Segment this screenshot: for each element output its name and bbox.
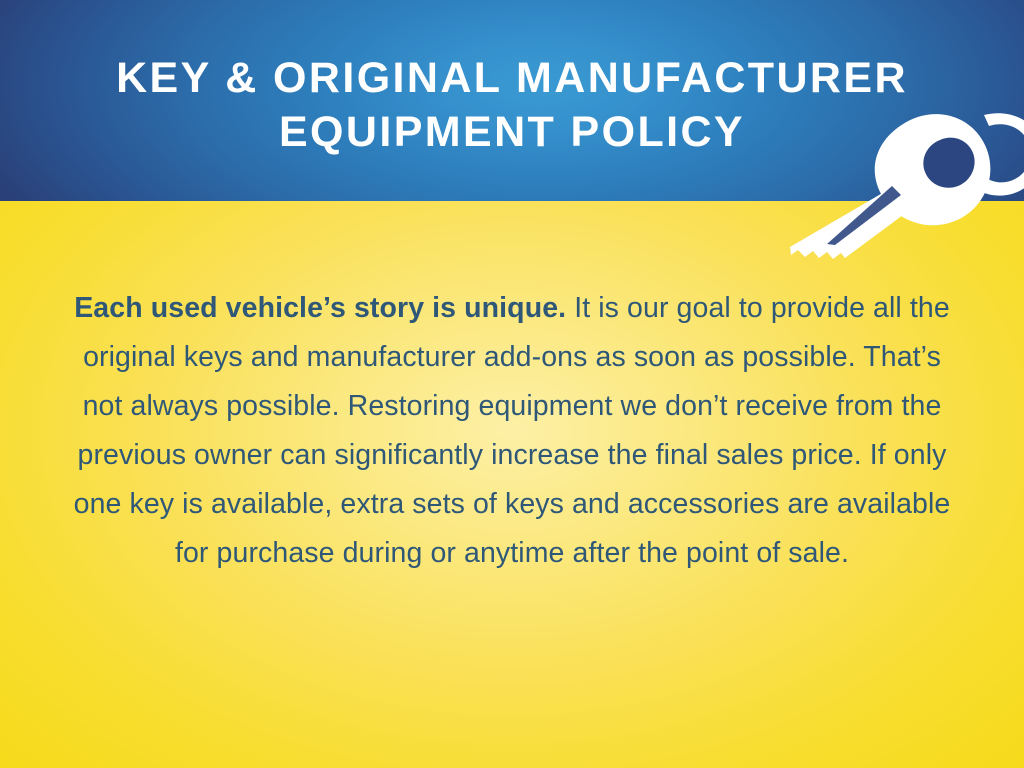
policy-body-text: Each used vehicle’s story is unique. It … <box>62 284 962 578</box>
page-title-line-1: KEY & ORIGINAL MANUFACTURER <box>116 51 908 105</box>
policy-lead-sentence: Each used vehicle’s story is unique. <box>74 292 566 324</box>
policy-slide: KEY & ORIGINAL MANUFACTURER EQUIPMENT PO… <box>0 0 1024 768</box>
header-title-block: KEY & ORIGINAL MANUFACTURER EQUIPMENT PO… <box>0 0 1024 201</box>
header-band: KEY & ORIGINAL MANUFACTURER EQUIPMENT PO… <box>0 0 1024 201</box>
page-title-line-2: EQUIPMENT POLICY <box>279 105 745 159</box>
policy-paragraph: It is our goal to provide all the origin… <box>74 292 951 569</box>
